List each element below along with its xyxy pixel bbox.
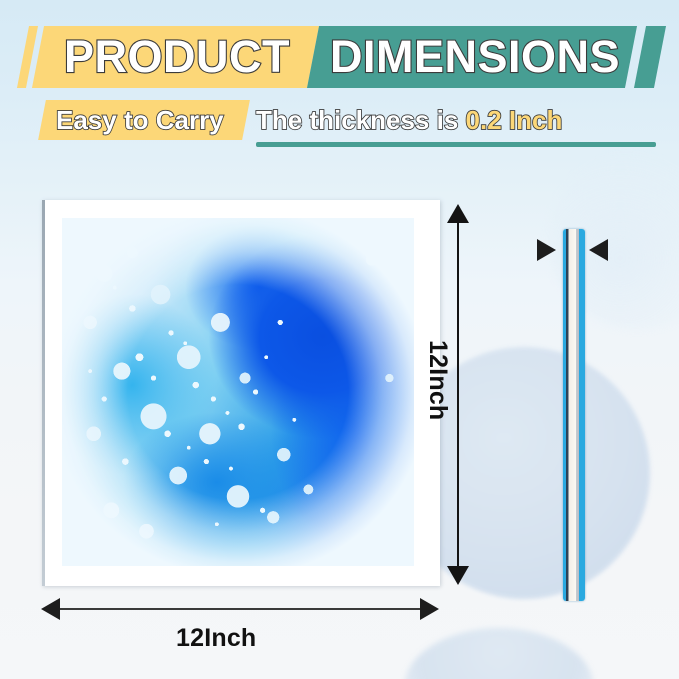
thickness-statement-prefix: The thickness is — [256, 105, 466, 135]
tile-foam-large-bubbles — [62, 218, 414, 566]
product-dimensions-infographic: PRODUCT DIMENSIONS Easy to Carry The thi… — [0, 0, 679, 679]
height-dimension-line — [457, 222, 459, 566]
arrow-right-icon — [537, 239, 556, 261]
thickness-edge-view-strip — [563, 229, 585, 601]
page-title-secondary: DIMENSIONS — [330, 26, 620, 88]
height-dimension-label: 12Inch — [423, 340, 452, 420]
subtitle-badge-label: Easy to Carry — [56, 100, 224, 140]
background-blob-bottom — [404, 628, 594, 679]
arrow-left-icon — [589, 239, 608, 261]
tile-left-edge-highlight — [42, 200, 45, 586]
header-banner: PRODUCT DIMENSIONS Easy to Carry The thi… — [0, 0, 679, 168]
width-dimension-label: 12Inch — [176, 624, 256, 653]
arrow-left-icon — [41, 598, 60, 620]
arrow-up-icon — [447, 204, 469, 223]
arrow-right-icon — [420, 598, 439, 620]
thickness-statement-value: 0.2 Inch — [466, 105, 563, 135]
thickness-statement: The thickness is 0.2 Inch — [256, 100, 562, 140]
tile-foam-small-bubbles — [62, 218, 414, 566]
subtitle-underline — [256, 142, 656, 147]
arrow-down-icon — [447, 566, 469, 585]
title-teal-accent-sliver — [634, 26, 666, 88]
subtitle-row: Easy to Carry The thickness is 0.2 Inch — [0, 100, 679, 154]
tile-liquid-surface — [62, 218, 414, 566]
tile-edge-halo — [62, 218, 414, 566]
product-tile — [42, 200, 440, 586]
page-title-primary: PRODUCT — [64, 26, 290, 88]
title-row: PRODUCT DIMENSIONS — [0, 26, 679, 88]
width-dimension-line — [60, 608, 420, 610]
